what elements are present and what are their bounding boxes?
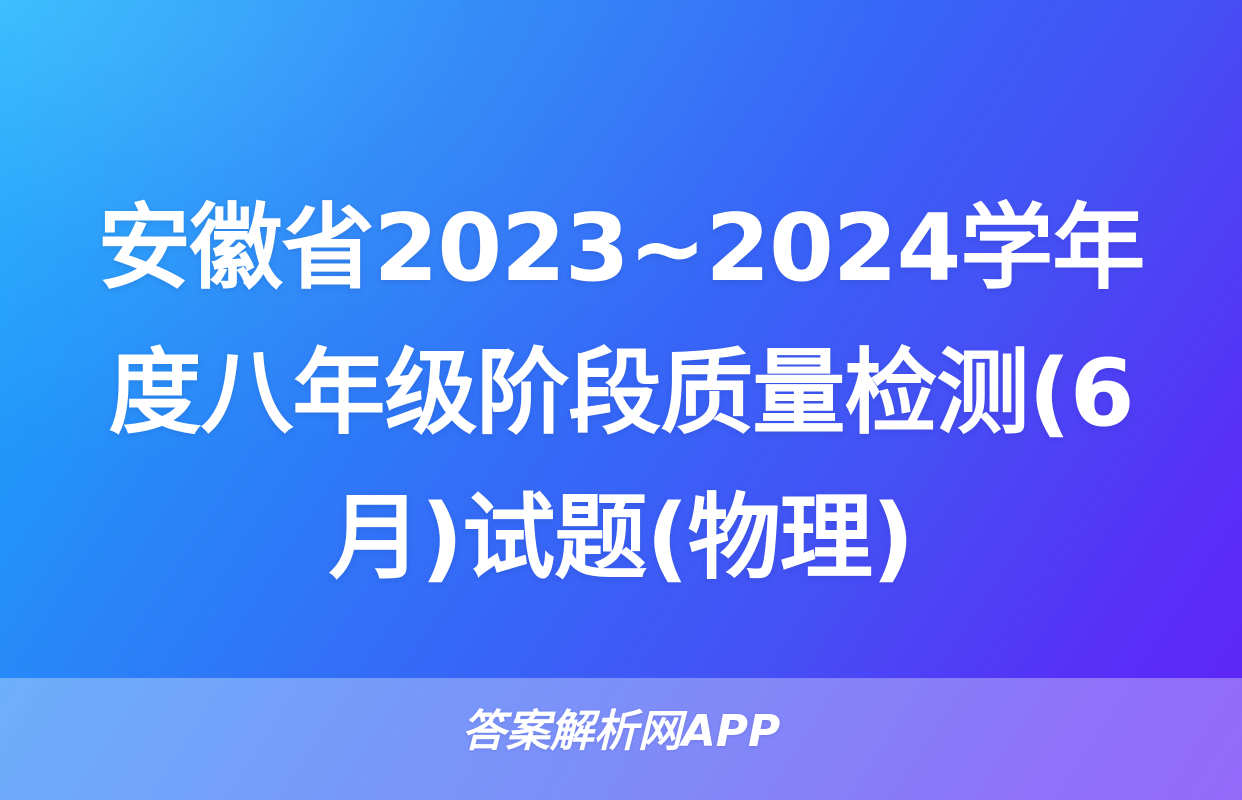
page-title-line-3: 月)试题(物理) [96,466,1146,611]
page-title-line-1: 安徽省2023~2024学年 [96,176,1146,321]
app-watermark: 答案解析网APP [0,702,1242,762]
page-title: 安徽省2023~2024学年 度八年级阶段质量检测(6 月)试题(物理) [0,176,1242,611]
app-watermark-label: 答案解析网APP [462,710,781,754]
exam-cover-poster: 安徽省2023~2024学年 度八年级阶段质量检测(6 月)试题(物理) 答案解… [0,0,1242,800]
page-title-line-2: 度八年级阶段质量检测(6 [96,321,1146,466]
